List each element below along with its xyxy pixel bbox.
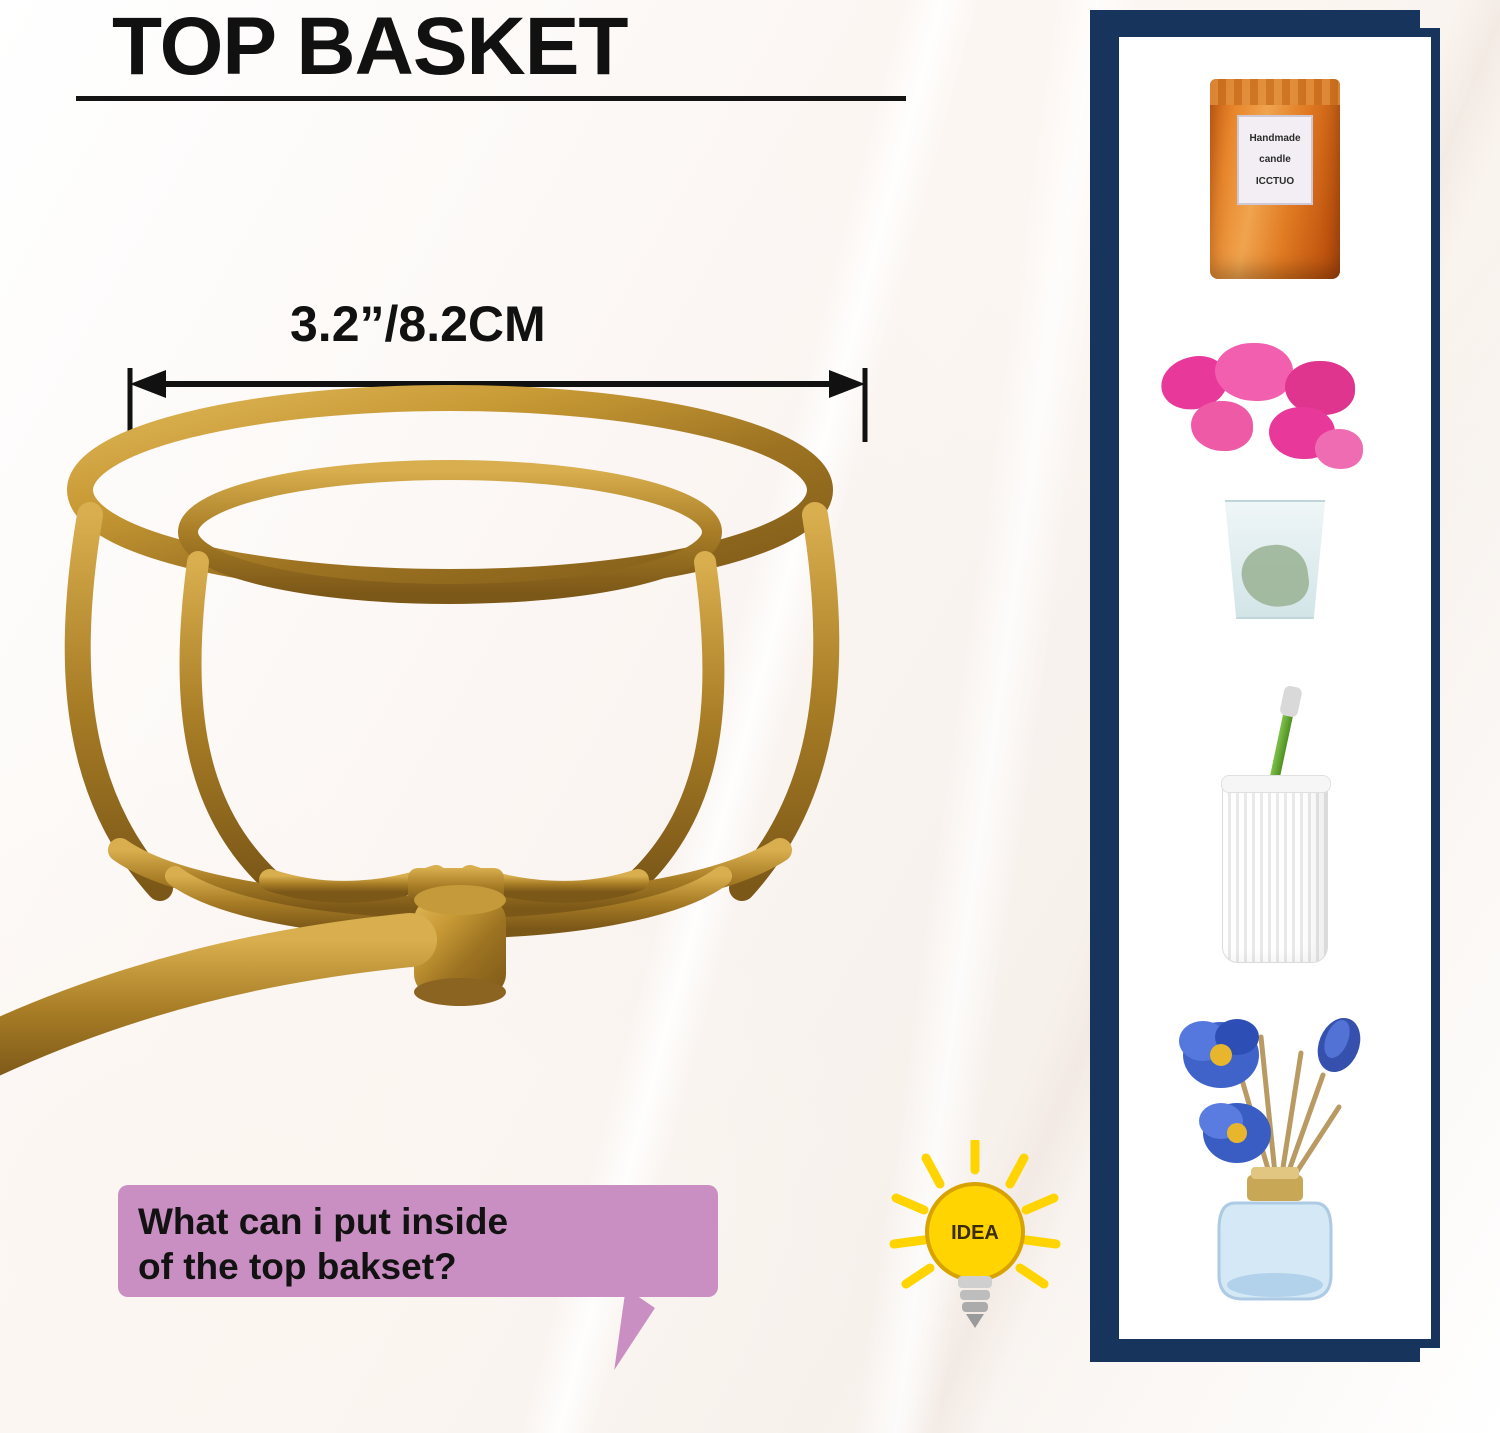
candle-label-line-1: Handmade: [1249, 133, 1300, 145]
candle-label: Handmade candle ICCTUO: [1237, 115, 1313, 205]
question-line-2: of the top bakset?: [138, 1244, 698, 1289]
flower-petal: [1315, 429, 1363, 469]
question-bubble: What can i put inside of the top bakset?: [118, 1185, 718, 1297]
panel-item-toothbrush-cup: [1119, 657, 1431, 977]
product-photo-top-basket: [0, 380, 930, 1120]
question-line-1: What can i put inside: [138, 1199, 698, 1244]
candle-label-line-2: candle: [1259, 154, 1291, 166]
idea-label: IDEA: [951, 1222, 999, 1244]
page-title-block: TOP BASKET: [70, 0, 950, 101]
flower-petal: [1215, 343, 1293, 401]
panel-item-candle: Handmade candle ICCTUO: [1119, 57, 1431, 297]
panel-item-reed-diffuser: [1119, 997, 1431, 1317]
dimension-label: 3.2”/8.2CM: [290, 295, 546, 353]
diffuser-illustration: [1119, 997, 1431, 1317]
lightbulb-icon: IDEA: [880, 1140, 1070, 1340]
page-title: TOP BASKET: [70, 0, 950, 90]
question-text: What can i put inside of the top bakset?: [138, 1199, 698, 1289]
ceramic-cup: [1222, 776, 1328, 963]
flower-petal: [1191, 401, 1253, 451]
title-underline: [76, 96, 906, 101]
toothbrush-bristles: [1279, 685, 1303, 718]
candle-label-line-3: ICCTUO: [1256, 176, 1294, 188]
usage-ideas-panel: Handmade candle ICCTUO: [1110, 28, 1440, 1348]
panel-item-flowers: [1119, 337, 1431, 627]
